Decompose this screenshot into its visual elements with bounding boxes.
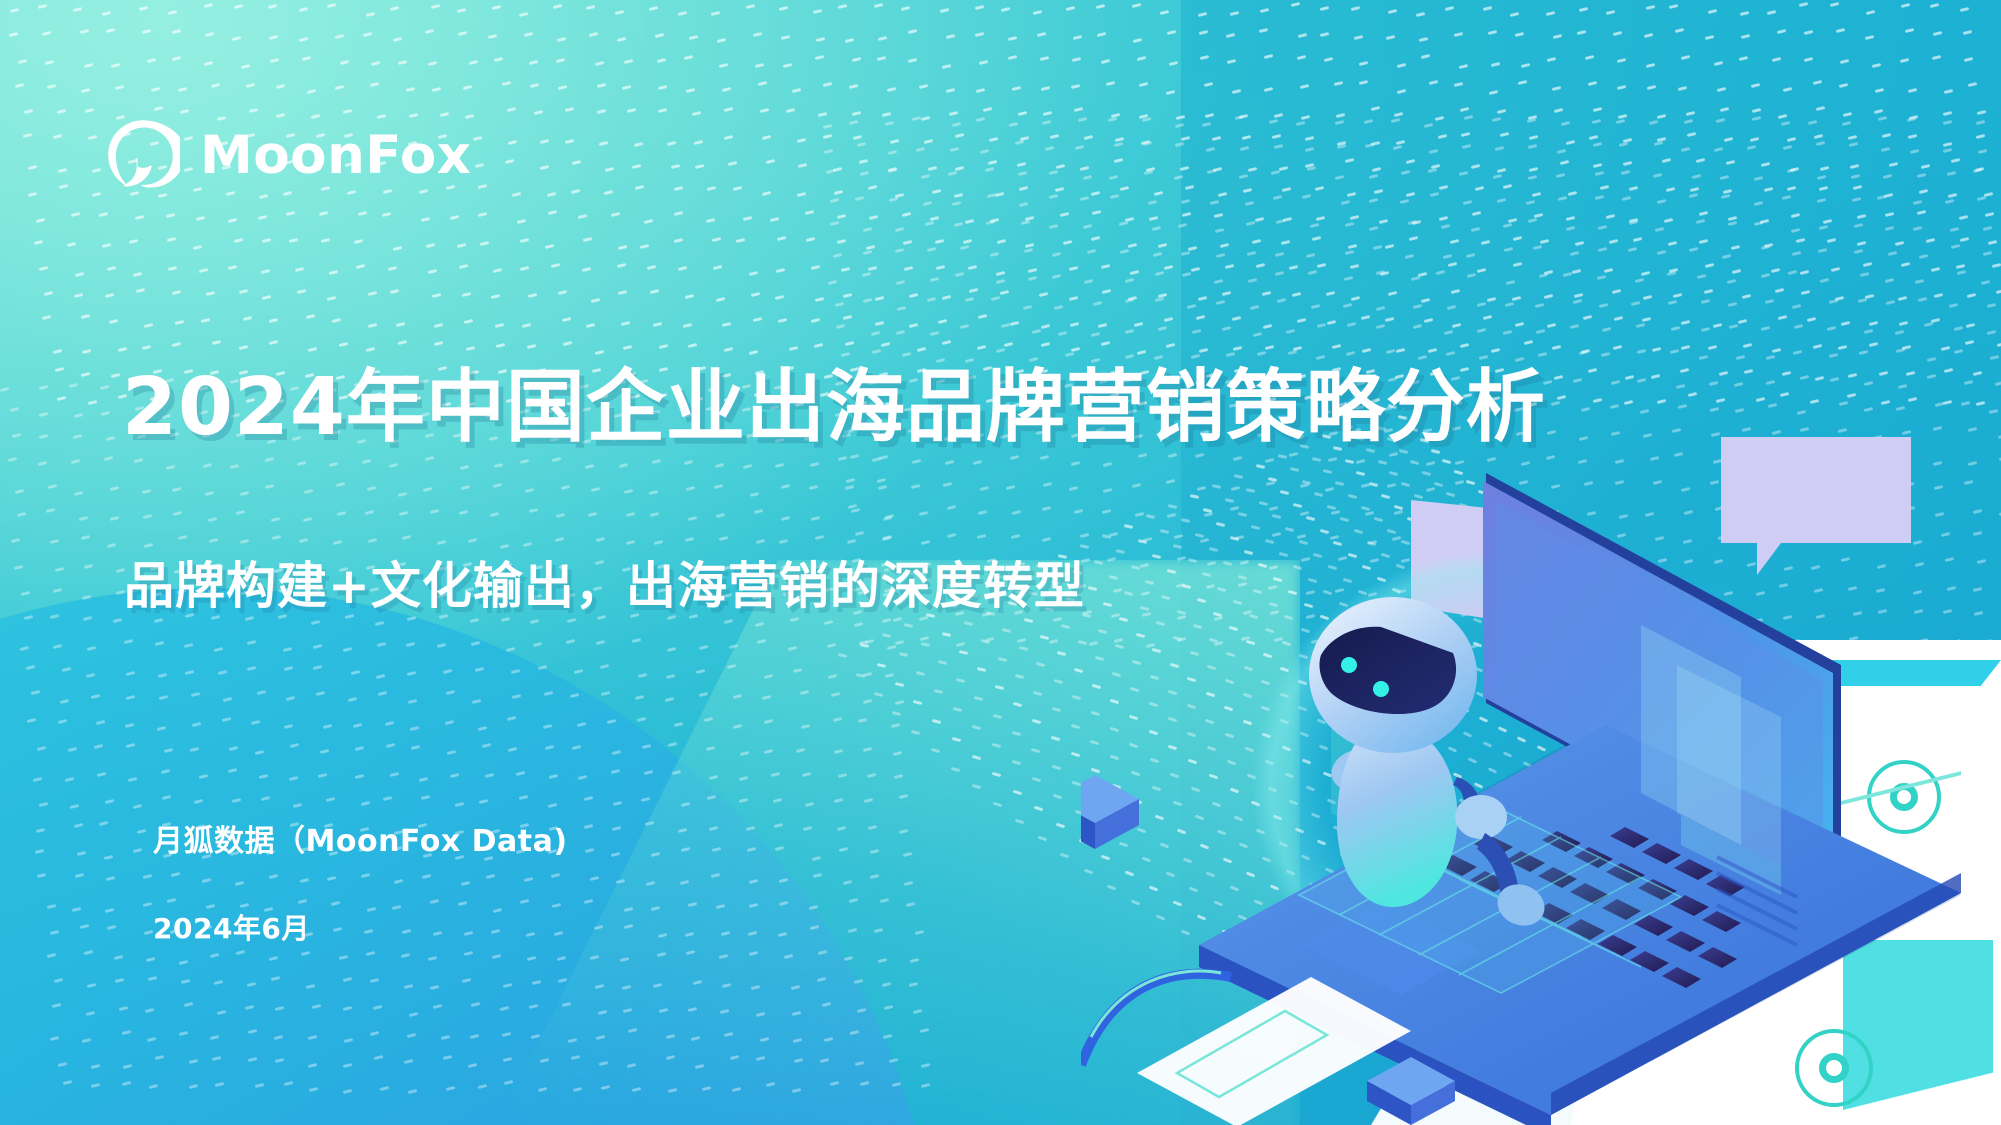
cover-slide: MoonFox 2024年中国企业出海品牌营销策略分析 品牌构建+文化输出，出海… [0, 0, 2001, 1125]
robot-eye-left [1341, 657, 1357, 673]
footer-block: 月狐数据（MoonFox Data) 2024年6月 [153, 816, 568, 947]
chat-bubble-icon [1721, 437, 1911, 575]
organization-name: 月狐数据（MoonFox Data) [153, 816, 568, 860]
logo-wordmark: MoonFox [200, 125, 471, 186]
moonfox-circle-swoosh-logo [106, 118, 180, 192]
robot-hand-right [1455, 795, 1507, 839]
brand-logo[interactable]: MoonFox [106, 118, 471, 192]
page-subtitle: 品牌构建+文化输出，出海营销的深度转型 [124, 546, 1085, 618]
isometric-robot-laptop-illustration [1081, 425, 2001, 1125]
publication-date: 2024年6月 [153, 907, 568, 947]
floating-cube-left [1081, 775, 1139, 849]
robot-eye-right [1373, 681, 1389, 697]
